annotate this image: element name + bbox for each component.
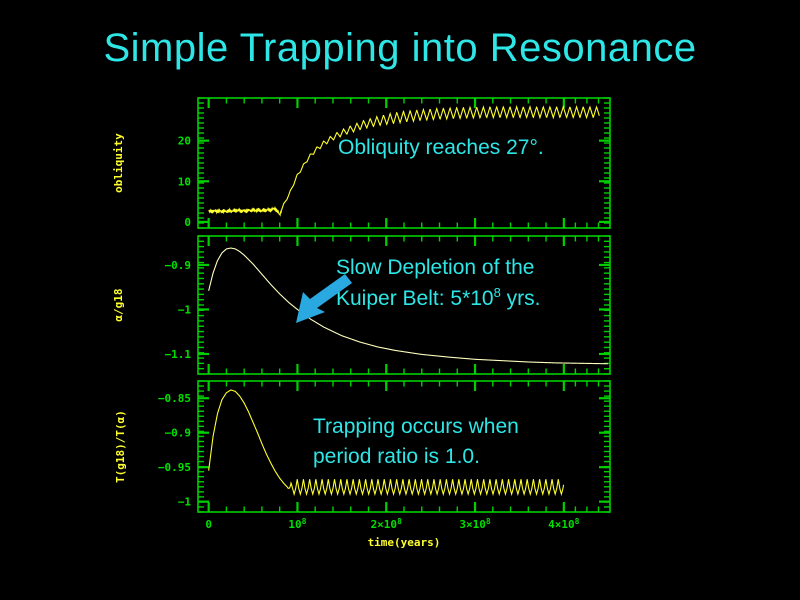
slide-canvas: Simple Trapping into Resonance 01020obli… xyxy=(0,0,800,600)
multi-panel-plot: 01020obliquity−0.9−1−1.1α/g18−0.85−0.9−0… xyxy=(0,80,800,580)
panel-period-ratio-curve xyxy=(209,390,564,494)
xtick-label: 2×108 xyxy=(371,517,403,531)
panel-obliquity-ytick-label: 0 xyxy=(184,216,191,229)
panel-alpha-g18-ytick-label: −1 xyxy=(178,303,192,316)
annotation-trapping-line1: Trapping occurs when xyxy=(313,415,519,438)
x-axis-label: time(years) xyxy=(368,536,441,549)
panel-obliquity-frame xyxy=(198,98,610,228)
xtick-label: 108 xyxy=(288,517,306,531)
panel-obliquity-y-axis-label: obliquity xyxy=(112,133,125,193)
panel-period-ratio-ytick-label: −1 xyxy=(178,496,192,509)
panel-alpha-g18-ytick-label: −0.9 xyxy=(165,259,192,272)
page-title: Simple Trapping into Resonance xyxy=(0,26,800,71)
annotation-depletion-line2: Kuiper Belt: 5*108 yrs. xyxy=(336,285,541,310)
xtick-label: 0 xyxy=(205,518,212,531)
annotation-depletion-line1: Slow Depletion of the xyxy=(336,256,534,279)
panel-obliquity-curve xyxy=(209,107,600,215)
panel-period-ratio-ytick-label: −0.85 xyxy=(158,392,191,405)
panel-obliquity-ytick-label: 20 xyxy=(178,135,191,148)
panel-period-ratio-ytick-label: −0.95 xyxy=(158,461,191,474)
xtick-label: 3×108 xyxy=(459,517,491,531)
panel-alpha-g18-y-axis-label: α/g18 xyxy=(112,288,125,321)
panel-alpha-g18-ytick-label: −1.1 xyxy=(165,348,192,361)
panel-period-ratio-y-axis-label: T(g18)/T(α) xyxy=(114,410,127,483)
x-axis-group: 01082×1083×1084×108time(years) xyxy=(205,517,579,549)
xtick-label: 4×108 xyxy=(548,517,580,531)
annotation-obliquity: Obliquity reaches 27°. xyxy=(338,136,544,159)
annotations-group: Obliquity reaches 27°.Slow Depletion of … xyxy=(296,136,544,468)
figure-container: 01020obliquity−0.9−1−1.1α/g18−0.85−0.9−0… xyxy=(0,80,800,580)
panel-obliquity: 01020obliquity xyxy=(112,98,610,229)
panel-obliquity-ytick-label: 10 xyxy=(178,175,191,188)
annotation-trapping-line2: period ratio is 1.0. xyxy=(313,445,480,468)
panel-period-ratio-ytick-label: −0.9 xyxy=(165,427,192,440)
